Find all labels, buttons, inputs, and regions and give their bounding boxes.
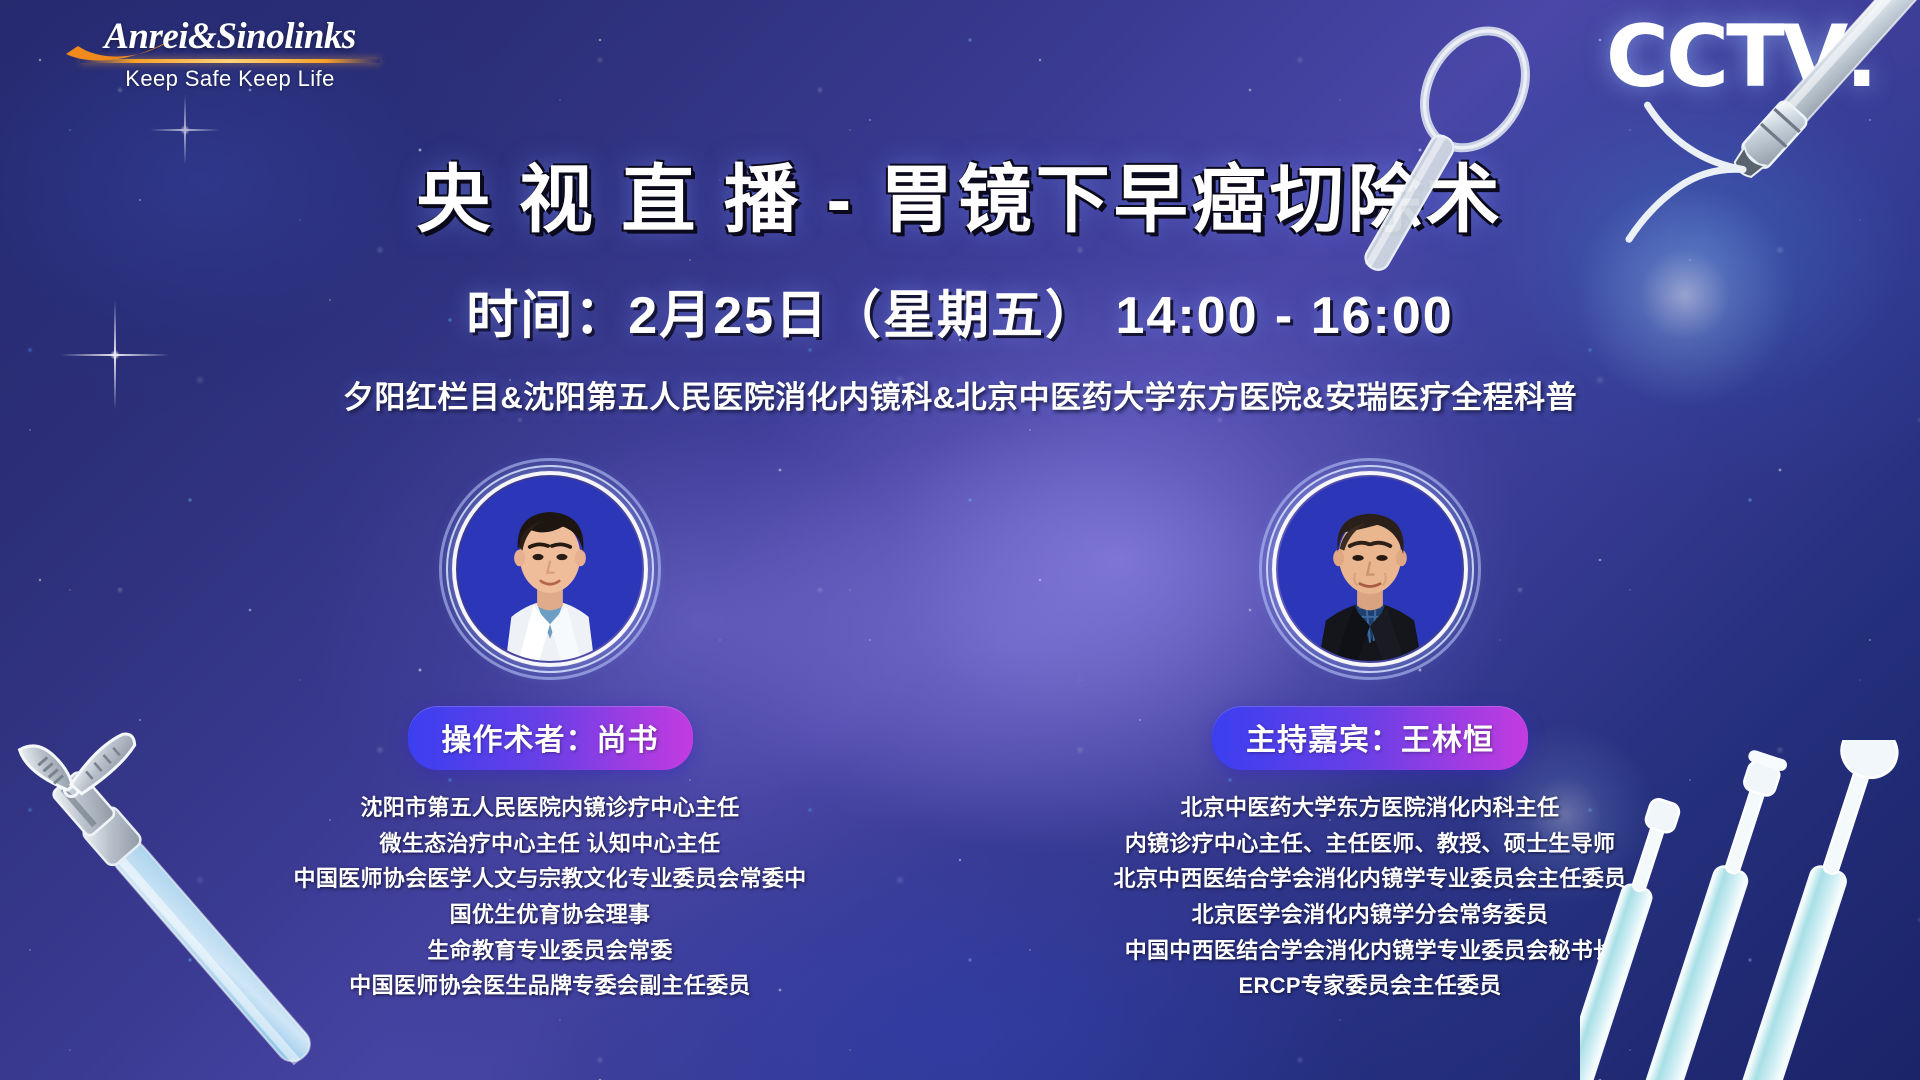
speakers-section: 操作术者：尚书 沈阳市第五人民医院内镜诊疗中心主任 微生态治疗中心主任 认知中心… [0,458,1920,1004]
list-item: 生命教育专业委员会常委 [200,933,900,969]
cctv-logo-text: CCTV [1606,7,1845,107]
list-item: ERCP专家委员会主任委员 [1020,968,1720,1004]
list-item: 内镜诊疗中心主任、主任医师、教授、硕士生导师 [1020,826,1720,862]
list-item: 中国中西医结合学会消化内镜学专业委员会秘书长 [1020,933,1720,969]
credentials-list-operator: 沈阳市第五人民医院内镜诊疗中心主任 微生态治疗中心主任 认知中心主任 中国医师协… [200,790,900,1004]
cctv-logo: CCTV. [1606,14,1878,100]
portrait-photo-host [1278,477,1462,661]
avatar [439,458,661,680]
partners-line: 夕阳红栏目&沈阳第五人民医院消化内镜科&北京中医药大学东方医院&安瑞医疗全程科普 [0,372,1920,417]
list-item: 北京医学会消化内镜学分会常务委员 [1020,897,1720,933]
portrait-photo-operator [458,477,642,661]
anrei-sinolinks-logo: Anrei&Sinolinks Keep Safe Keep Life [70,18,390,92]
role-badge-operator: 操作术者：尚书 [408,706,693,770]
headline-block: 央 视 直 播 - 胃镜下早癌切除术 时间：2月25日（星期五） 14:00 -… [0,140,1920,417]
speaker-card-operator: 操作术者：尚书 沈阳市第五人民医院内镜诊疗中心主任 微生态治疗中心主任 认知中心… [200,458,900,1004]
cctv-logo-dot: . [1845,7,1878,107]
anrei-tagline: Keep Safe Keep Life [70,66,390,92]
list-item: 国优生优育协会理事 [200,897,900,933]
speaker-card-host: 主持嘉宾：王林恒 北京中医药大学东方医院消化内科主任 内镜诊疗中心主任、主任医师… [1020,458,1720,1004]
list-item: 北京中医药大学东方医院消化内科主任 [1020,790,1720,826]
host-portrait-illustration [1278,477,1462,661]
list-item: 微生态治疗中心主任 认知中心主任 [200,826,900,862]
livestream-poster: Anrei&Sinolinks Keep Safe Keep Life CCTV… [0,0,1920,1080]
credentials-list-host: 北京中医药大学东方医院消化内科主任 内镜诊疗中心主任、主任医师、教授、硕士生导师… [1020,790,1720,1004]
event-time: 时间：2月25日（星期五） 14:00 - 16:00 [0,273,1920,348]
page-title: 央 视 直 播 - 胃镜下早癌切除术 [0,140,1920,247]
anrei-logo-text: Anrei&Sinolinks [70,18,390,57]
list-item: 北京中西医结合学会消化内镜学专业委员会主任委员 [1020,861,1720,897]
role-badge-host: 主持嘉宾：王林恒 [1212,706,1528,770]
avatar [1259,458,1481,680]
list-item: 中国医师协会医学人文与宗教文化专业委员会常委中 [200,861,900,897]
doctor-portrait-illustration [458,477,642,661]
list-item: 沈阳市第五人民医院内镜诊疗中心主任 [200,790,900,826]
list-item: 中国医师协会医生品牌专委会副主任委员 [200,968,900,1004]
